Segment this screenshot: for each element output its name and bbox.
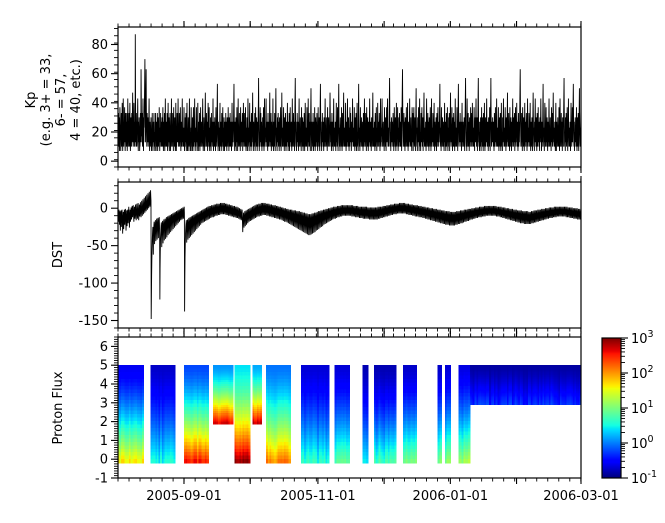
dst-tick-label--150: -150	[78, 314, 108, 329]
kp-tick-label-40: 40	[91, 96, 108, 111]
heatmap-cell	[468, 459, 470, 463]
heatmap-cell	[415, 459, 417, 463]
heatmap-cell	[348, 459, 350, 463]
heatmap-cell	[207, 459, 209, 463]
heatmap-cell	[439, 459, 441, 463]
heatmap-cell	[142, 459, 144, 463]
heatmap-cell	[394, 459, 396, 463]
heatmap-cell	[260, 422, 262, 425]
scientific-figure: Kp (e.g. 3+ = 33, 6- = 57, 4 = 40, etc.)…	[0, 0, 665, 523]
heatmap-cell	[289, 459, 291, 463]
heatmap-cell	[231, 422, 233, 425]
kp-ylabel-line-2: 6- = 57,	[54, 74, 69, 127]
dst-tick-label-0: 0	[100, 202, 108, 217]
dst-ylabel: DST	[51, 242, 66, 268]
heatmap-cell	[449, 459, 451, 463]
kp-ylabel-line-1: (e.g. 3+ = 33,	[39, 54, 54, 147]
figure-root: Kp (e.g. 3+ = 33, 6- = 57, 4 = 40, etc.)…	[0, 0, 665, 523]
heatmap-cell	[248, 459, 250, 463]
kp-ylabel-line-0: Kp	[24, 92, 39, 109]
dst-tick-label--100: -100	[78, 277, 108, 292]
kp-tick-label-60: 60	[91, 67, 108, 82]
heatmap-cell	[327, 459, 329, 463]
kp-tick-label-80: 80	[91, 38, 108, 53]
kp-tick-label-20: 20	[91, 126, 108, 141]
proton-flux-ylabel: Proton Flux	[51, 371, 66, 444]
kp-ylabel-line-3: 4 = 40, etc.)	[69, 59, 84, 141]
heatmap-cell	[173, 459, 175, 463]
heatmap-cell	[366, 459, 368, 463]
dst-tick-label--50: -50	[87, 239, 108, 254]
kp-tick-label-0: 0	[100, 155, 108, 170]
